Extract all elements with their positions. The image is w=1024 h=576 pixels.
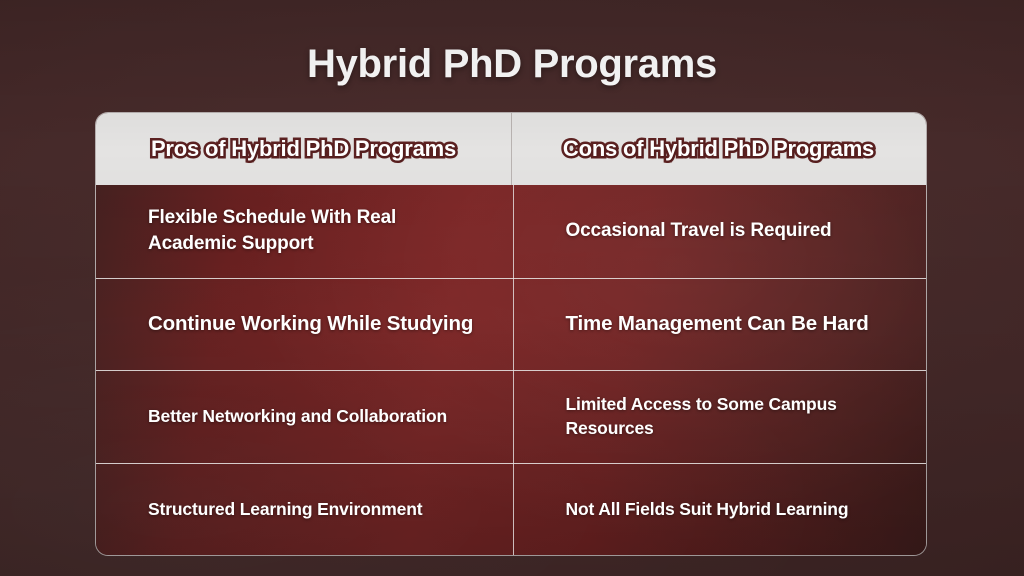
table-cell-con: Occasional Travel is Required — [513, 185, 927, 278]
table-cell-text: Better Networking and Collaboration — [148, 404, 487, 428]
table-cell-text: Time Management Can Be Hard — [566, 310, 905, 338]
table-cell-pro: Flexible Schedule With Real Academic Sup… — [96, 185, 513, 278]
page-title: Hybrid PhD Programs — [0, 42, 1024, 87]
table-cell-con: Not All Fields Suit Hybrid Learning — [513, 463, 927, 556]
table-body: Flexible Schedule With Real Academic Sup… — [96, 185, 926, 555]
table-cell-con: Time Management Can Be Hard — [513, 278, 927, 371]
pros-cons-table: Pros of Hybrid PhD Programs Cons of Hybr… — [96, 113, 926, 555]
table-cell-text: Flexible Schedule With Real Academic Sup… — [148, 205, 487, 257]
table-cell-pro: Better Networking and Collaboration — [96, 370, 513, 463]
table-header-cell-cons: Cons of Hybrid PhD Programs — [511, 113, 926, 185]
table-cell-text: Occasional Travel is Required — [566, 218, 905, 244]
table-cell-text: Limited Access to Some Campus Resources — [566, 392, 905, 440]
table-cell-text: Continue Working While Studying — [148, 310, 487, 338]
table-row: Better Networking and Collaboration Limi… — [96, 370, 926, 463]
table-cell-pro: Continue Working While Studying — [96, 278, 513, 371]
table-row: Continue Working While Studying Time Man… — [96, 278, 926, 371]
table-cell-pro: Structured Learning Environment — [96, 463, 513, 556]
table-cell-text: Not All Fields Suit Hybrid Learning — [566, 497, 905, 521]
table-cell-con: Limited Access to Some Campus Resources — [513, 370, 927, 463]
table-row: Structured Learning Environment Not All … — [96, 463, 926, 556]
column-header-label-pros: Pros of Hybrid PhD Programs — [151, 136, 456, 162]
table-cell-text: Structured Learning Environment — [148, 497, 487, 521]
table-row: Flexible Schedule With Real Academic Sup… — [96, 185, 926, 278]
column-header-label-cons: Cons of Hybrid PhD Programs — [563, 136, 874, 162]
table-header-cell-pros: Pros of Hybrid PhD Programs — [96, 113, 511, 185]
slide-canvas: Hybrid PhD Programs Pros of Hybrid PhD P… — [0, 0, 1024, 576]
table-header-row: Pros of Hybrid PhD Programs Cons of Hybr… — [96, 113, 926, 185]
